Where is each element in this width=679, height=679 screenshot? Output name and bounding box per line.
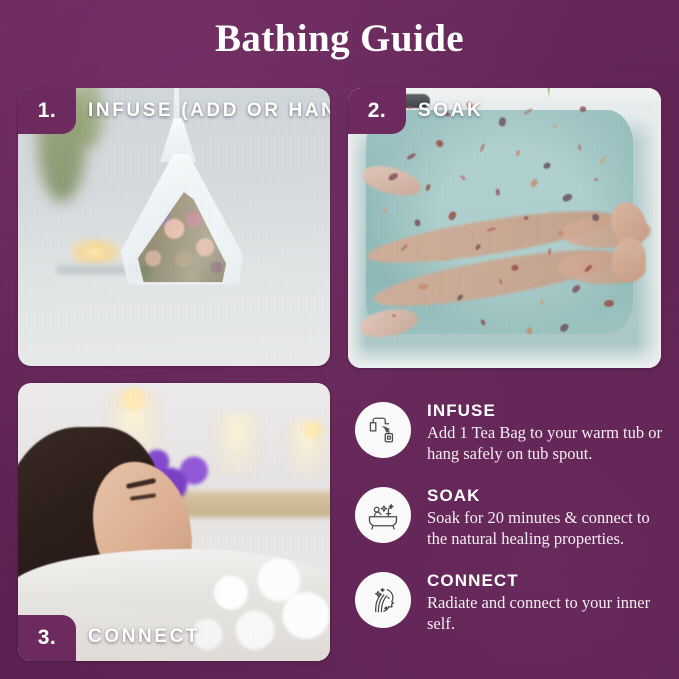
- tea-bag-gloss: [118, 154, 244, 286]
- instruction-list: INFUSE Add 1 Tea Bag to your warm tub or…: [355, 398, 671, 653]
- flame-icon: [302, 421, 324, 439]
- hand-shape: [360, 162, 424, 200]
- instruction-title: SOAK: [427, 485, 671, 506]
- petal: [414, 219, 420, 227]
- step-card-infuse: 1. INFUSE (ADD OR HANG): [18, 88, 330, 366]
- instruction-text: Radiate and connect to your inner self.: [427, 592, 671, 634]
- instruction-item-connect: CONNECT Radiate and connect to your inne…: [355, 568, 671, 644]
- instruction-item-soak: SOAK Soak for 20 minutes & connect to th…: [355, 483, 671, 559]
- card-label-connect: CONNECT: [88, 626, 200, 648]
- bath-tea-bag-icon: [106, 88, 256, 338]
- face-sparkle-icon: [355, 572, 411, 628]
- petal: [495, 189, 500, 196]
- card-number-badge: 3.: [18, 615, 76, 661]
- card-label-soak: SOAK: [418, 100, 483, 122]
- instruction-text: Soak for 20 minutes & connect to the nat…: [427, 507, 671, 549]
- instruction-text: Add 1 Tea Bag to your warm tub or hang s…: [427, 422, 671, 464]
- step-card-soak: 2. SOAK: [348, 88, 661, 368]
- instruction-item-infuse: INFUSE Add 1 Tea Bag to your warm tub or…: [355, 398, 671, 474]
- card-number-badge: 1.: [18, 88, 76, 134]
- instruction-title: CONNECT: [427, 570, 671, 591]
- bubbles-icon: [186, 551, 330, 655]
- bath-water: [366, 110, 633, 334]
- flame-icon: [118, 387, 148, 411]
- instruction-title: INFUSE: [427, 400, 671, 421]
- bathing-guide-infographic: Bathing Guide 1. INFUSE (ADD OR HANG): [0, 0, 679, 679]
- page-title: Bathing Guide: [0, 16, 679, 61]
- card-number-badge: 2.: [348, 88, 406, 134]
- bathtub-icon: [355, 487, 411, 543]
- faucet-teabag-icon: [355, 402, 411, 458]
- card-label-infuse: INFUSE (ADD OR HANG): [88, 100, 330, 122]
- step-card-connect: 3. CONNECT: [18, 383, 330, 661]
